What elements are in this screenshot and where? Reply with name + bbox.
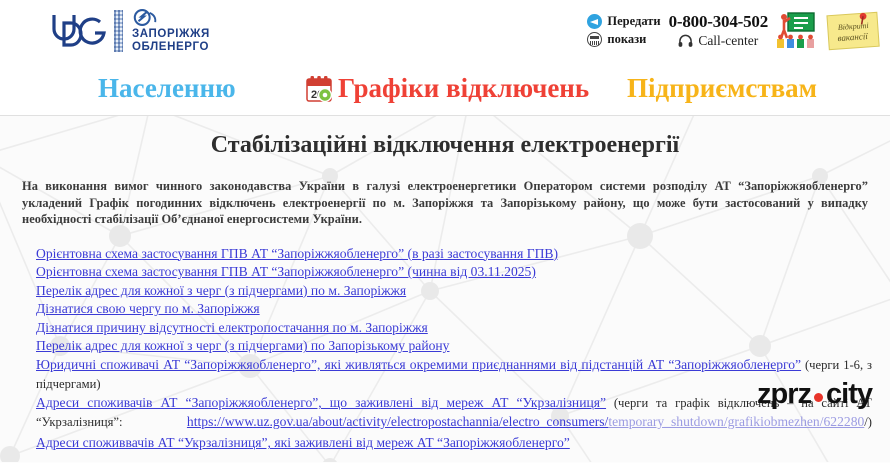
meter-icon[interactable] <box>587 32 602 47</box>
logo-ornament-icon <box>114 10 123 52</box>
uz-url-tail-close: /) <box>864 415 872 429</box>
content-inner: Стабілізаційні відключення електроенергі… <box>0 132 890 452</box>
intro-paragraph: На виконання вимог чинного законодавства… <box>22 178 868 228</box>
transmit-readings-row2[interactable]: покази <box>587 32 660 47</box>
callcenter-label: Call-center <box>698 33 758 49</box>
links-list: Орієнтовна схема застосування ГПВ АТ “За… <box>36 245 872 453</box>
list-item: Юридичні споживачі АТ “Запоріжжяобленерг… <box>36 356 872 393</box>
link-addresses-zaporizhzhia[interactable]: Перелік адрес для кожної з черг (з підче… <box>36 283 406 298</box>
list-item: Адреси споживвачів АТ “Укрзалізниця”, як… <box>36 434 872 452</box>
list-item: Дізнатися свою чергу по м. Запоріжжя <box>36 300 872 318</box>
link-legal-consumers[interactable]: Юридичні споживачі АТ “Запоріжжяобленерг… <box>36 357 801 372</box>
education-board-icon <box>776 11 816 49</box>
site-logo[interactable]: ЗАПОРІЖЖЯ ОБЛЕНЕРГО <box>48 6 210 56</box>
nav-item-grafiky[interactable]: Графіки відключень <box>338 75 589 102</box>
energy-swirl-icon <box>132 9 158 26</box>
list-item: Орієнтовна схема застосування ГПВ АТ “За… <box>36 263 872 281</box>
main-content: Стабілізаційні відключення електроенергі… <box>0 116 890 462</box>
link-gpv-scheme-active[interactable]: Орієнтовна схема застосування ГПВ АТ “За… <box>36 264 536 279</box>
site-header: ЗАПОРІЖЖЯ ОБЛЕНЕРГО Передати покази 0-80… <box>0 0 890 62</box>
transmit-label-line2: покази <box>607 32 646 47</box>
headset-icon <box>678 34 693 48</box>
logo-company-text: ЗАПОРІЖЖЯ ОБЛЕНЕРГО <box>132 9 210 54</box>
page-title: Стабілізаційні відключення електроенергі… <box>18 132 872 159</box>
link-uz-url-visited[interactable]: temporary_shutdown/grafikiobmezhen/62228… <box>608 414 864 429</box>
list-item: Дізнатися причину відсутності електропос… <box>36 319 872 337</box>
link-addresses-district[interactable]: Перелік адрес для кожної з черг (з підче… <box>36 338 449 353</box>
telegram-icon[interactable] <box>587 14 602 29</box>
header-contacts: Передати покази 0-800-304-502 Call-cente… <box>587 6 882 54</box>
callcenter-block[interactable]: 0-800-304-502 Call-center <box>669 12 768 49</box>
list-item: Перелік адрес для кожної з черг (з підче… <box>36 282 872 300</box>
list-item: Перелік адрес для кожної з черг (з підче… <box>36 337 872 355</box>
list-item: Орієнтовна схема застосування ГПВ АТ “За… <box>36 245 872 263</box>
nav-item-pidpryemstvam[interactable]: Підприємствам <box>627 75 817 102</box>
link-uz-url-active[interactable]: https://www.uz.gov.ua/about/activity/ele… <box>187 414 608 429</box>
link-find-outage-reason[interactable]: Дізнатися причину відсутності електропос… <box>36 320 428 335</box>
link-find-your-queue[interactable]: Дізнатися свою чергу по м. Запоріжжя <box>36 301 260 316</box>
nav-item-grafiky-wrap[interactable]: 20 Графіки відключень <box>305 75 589 103</box>
logo-company-line1: ЗАПОРІЖЖЯ <box>132 28 210 41</box>
udg-monogram-icon <box>48 9 110 53</box>
main-nav: Населенню 20 Графіки відключень Підприєм… <box>0 62 890 116</box>
link-uz-consumers[interactable]: Адреси споживачів АТ “Запоріжжяобленерго… <box>36 395 606 410</box>
transmit-label-line1: Передати <box>607 14 660 29</box>
callcenter-row: Call-center <box>678 33 758 49</box>
callcenter-phone[interactable]: 0-800-304-502 <box>669 12 768 32</box>
transmit-readings-row1[interactable]: Передати <box>587 14 660 29</box>
vacancies-sticky-note[interactable]: Відкриті вакансії <box>824 9 882 51</box>
link-gpv-scheme-incase[interactable]: Орієнтовна схема застосування ГПВ АТ “За… <box>36 246 558 261</box>
vacancy-line2-text: вакансії <box>837 31 868 43</box>
link-uz-addresses-reverse[interactable]: Адреси споживвачів АТ “Укрзалізниця”, як… <box>36 435 570 450</box>
calendar-icon: 20 <box>305 75 333 103</box>
page-root: ЗАПОРІЖЖЯ ОБЛЕНЕРГО Передати покази 0-80… <box>0 0 890 463</box>
logo-company-line2: ОБЛЕНЕРГО <box>132 41 210 54</box>
transmit-readings-block[interactable]: Передати покази <box>587 14 660 47</box>
nav-item-naselennyu[interactable]: Населенню <box>98 75 236 102</box>
list-item: Адреси споживачів АТ “Запоріжжяобленерго… <box>36 394 872 431</box>
